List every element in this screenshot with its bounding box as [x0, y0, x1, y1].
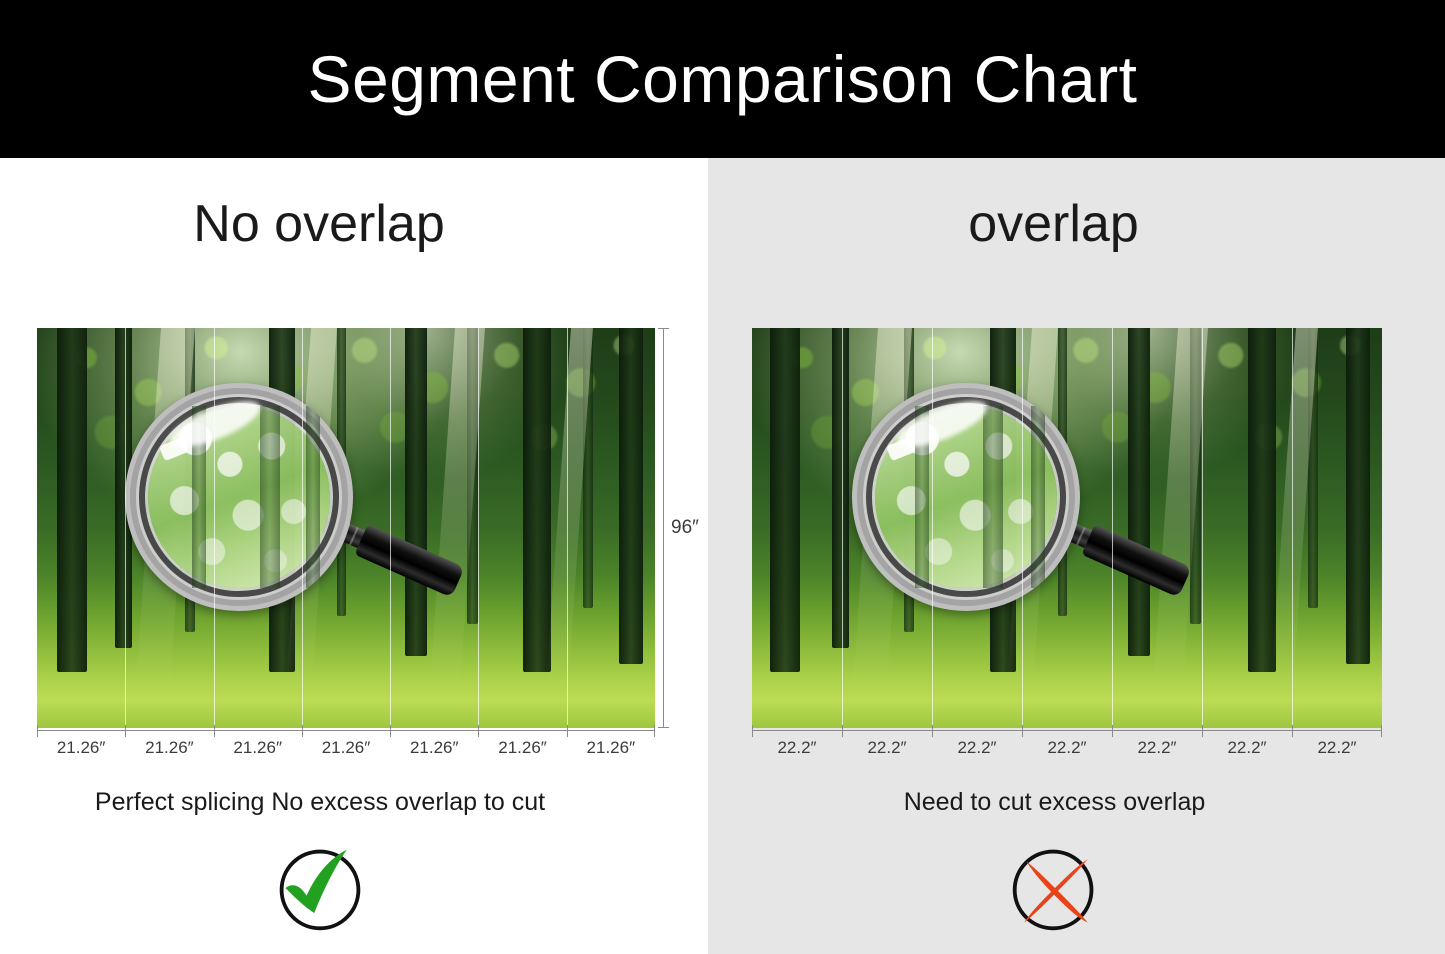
dimension-line [752, 730, 1382, 731]
dimension-tick [1022, 725, 1023, 737]
dimension-tick [478, 725, 479, 737]
caption-no-overlap: Perfect splicing No excess overlap to cu… [0, 790, 708, 815]
segment-label: 21.26″ [214, 738, 302, 758]
segment-label: 22.2″ [752, 738, 842, 758]
page-header: Segment Comparison Chart [0, 0, 1445, 158]
tree-trunk-icon [57, 328, 87, 672]
tree-trunk-icon [269, 328, 295, 672]
cross-circle-icon [1007, 840, 1103, 936]
tree-trunk-icon [523, 328, 551, 672]
tree-trunk-icon [337, 328, 346, 616]
tree-trunk-icon [583, 328, 593, 608]
panel-overlap: overlap [708, 158, 1445, 954]
panel-title-overlap: overlap [708, 198, 1445, 250]
dimension-tick [302, 725, 303, 737]
segment-label: 21.26″ [37, 738, 125, 758]
tree-trunk-icon [1308, 328, 1318, 608]
tree-trunk-icon [1248, 328, 1276, 672]
check-circle-icon [272, 840, 368, 936]
segment-label: 21.26″ [302, 738, 390, 758]
tree-trunk-icon [770, 328, 800, 672]
tree-trunk-icon [990, 328, 1016, 672]
tree-trunk-icon [904, 328, 914, 632]
tree-trunk-icon [467, 328, 478, 624]
dimension-tick [752, 725, 753, 737]
forest-image-left [37, 328, 655, 728]
dimension-tick [932, 725, 933, 737]
segment-label: 22.2″ [842, 738, 932, 758]
tree-trunk-icon [1058, 328, 1067, 616]
dimension-tick [1292, 725, 1293, 737]
mural-photo-no-overlap [37, 328, 655, 728]
dimension-tick [654, 725, 655, 737]
panel-title-no-overlap: No overlap [0, 198, 708, 250]
width-dimension-right: 22.2″ 22.2″ 22.2″ 22.2″ 22.2″ 22.2″ 22.2… [752, 730, 1382, 776]
dimension-tick [567, 725, 568, 737]
dimension-tick [37, 725, 38, 737]
caption-overlap: Need to cut excess overlap [708, 790, 1445, 815]
tree-trunk-icon [619, 328, 643, 664]
width-dimension-left: 21.26″ 21.26″ 21.26″ 21.26″ 21.26″ 21.26… [37, 730, 655, 776]
dimension-tick [125, 725, 126, 737]
dimension-line [663, 328, 664, 728]
dimension-tick [390, 725, 391, 737]
segment-label: 22.2″ [932, 738, 1022, 758]
comparison-panels: No overlap [0, 158, 1445, 954]
segment-label: 21.26″ [125, 738, 213, 758]
tree-trunk-icon [405, 328, 427, 656]
panel-no-overlap: No overlap [0, 158, 708, 954]
dimension-tick [842, 725, 843, 737]
tree-trunk-icon [1190, 328, 1201, 624]
tree-trunk-icon [185, 328, 195, 632]
dimension-tick [1202, 725, 1203, 737]
forest-image-right [752, 328, 1382, 728]
dimension-tick [1112, 725, 1113, 737]
verdict-overlap [708, 840, 1445, 936]
height-label-left: 96″ [671, 517, 699, 539]
mural-photo-overlap [752, 328, 1382, 728]
segment-label: 21.26″ [478, 738, 566, 758]
tree-trunk-icon [832, 328, 849, 648]
segment-label: 22.2″ [1112, 738, 1202, 758]
segment-label: 22.2″ [1202, 738, 1292, 758]
verdict-no-overlap [0, 840, 708, 936]
segment-label: 22.2″ [1022, 738, 1112, 758]
tree-trunk-icon [1128, 328, 1150, 656]
tree-trunk-icon [1346, 328, 1370, 664]
segment-label: 21.26″ [567, 738, 655, 758]
dimension-tick [214, 725, 215, 737]
tree-trunk-icon [115, 328, 132, 648]
segment-comparison-chart-page: Segment Comparison Chart No overlap [0, 0, 1445, 954]
page-title: Segment Comparison Chart [307, 46, 1137, 112]
dimension-line [37, 730, 655, 731]
segment-label: 22.2″ [1292, 738, 1382, 758]
segment-label: 21.26″ [390, 738, 478, 758]
dimension-tick [1381, 725, 1382, 737]
